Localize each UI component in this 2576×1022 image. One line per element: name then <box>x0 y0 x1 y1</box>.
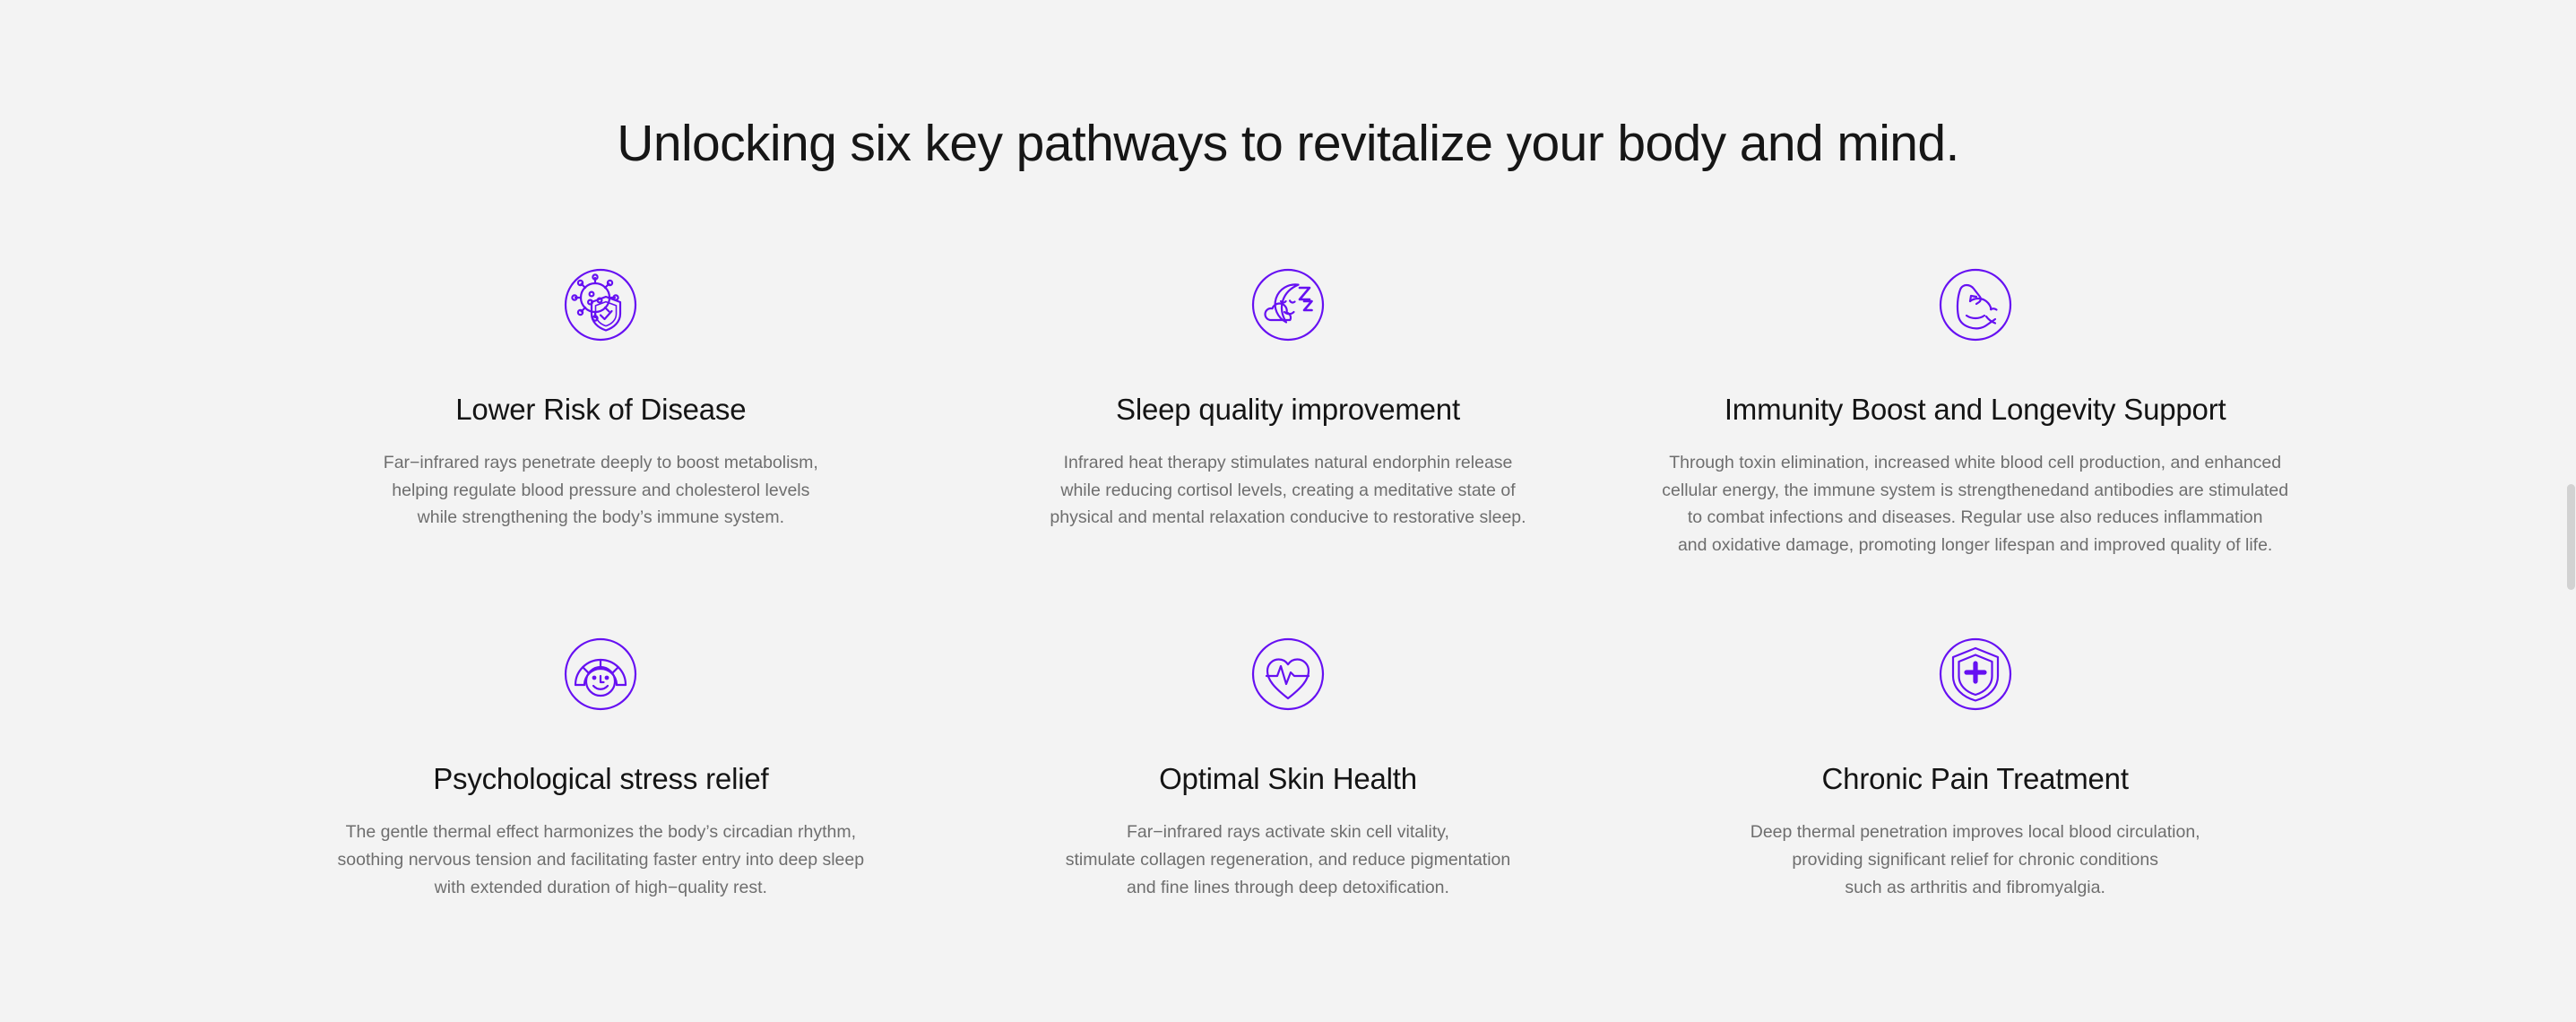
scrollbar-thumb[interactable] <box>2567 484 2575 590</box>
benefit-card-optimal-skin-health: Optimal Skin Health Far−infrared rays ac… <box>945 629 1632 902</box>
benefit-card-chronic-pain-treatment: Chronic Pain Treatment Deep thermal pene… <box>1631 629 2319 902</box>
benefit-description: Deep thermal penetration improves local … <box>1750 818 2200 901</box>
benefit-description: Through toxin elimination, increased whi… <box>1662 449 2288 559</box>
benefit-title: Chronic Pain Treatment <box>1822 760 2129 797</box>
benefit-card-immunity-boost: Immunity Boost and Longevity Support Thr… <box>1631 260 2319 559</box>
benefit-title: Psychological stress relief <box>433 760 768 797</box>
virus-shield-check-icon <box>556 260 645 350</box>
page-scrollbar[interactable] <box>2565 0 2576 1022</box>
flexed-bicep-muscle-icon <box>1931 260 2020 350</box>
benefit-card-sleep-quality-improvement: Sleep quality improvement Infrared heat … <box>945 260 1632 559</box>
heart-pulse-icon <box>1243 629 1333 719</box>
benefit-title: Immunity Boost and Longevity Support <box>1725 391 2226 428</box>
benefit-description: The gentle thermal effect harmonizes the… <box>338 818 865 901</box>
benefit-description: Far−infrared rays penetrate deeply to bo… <box>384 449 818 532</box>
benefit-title: Lower Risk of Disease <box>455 391 746 428</box>
benefit-description: Infrared heat therapy stimulates natural… <box>1050 449 1526 532</box>
benefits-page: Unlocking six key pathways to revitalize… <box>0 0 2576 1022</box>
shield-medical-cross-icon <box>1931 629 2020 719</box>
benefit-card-psychological-stress-relief: Psychological stress relief The gentle t… <box>257 629 945 902</box>
benefit-title: Sleep quality improvement <box>1116 391 1460 428</box>
benefit-title: Optimal Skin Health <box>1159 760 1417 797</box>
benefits-grid: Lower Risk of Disease Far−infrared rays … <box>257 260 2319 902</box>
benefit-card-lower-risk-of-disease: Lower Risk of Disease Far−infrared rays … <box>257 260 945 559</box>
benefit-description: Far−infrared rays activate skin cell vit… <box>1066 818 1511 901</box>
sleeping-moon-zzz-icon <box>1243 260 1333 350</box>
smiley-face-gauge-icon <box>556 629 645 719</box>
page-title: Unlocking six key pathways to revitalize… <box>0 115 2576 174</box>
